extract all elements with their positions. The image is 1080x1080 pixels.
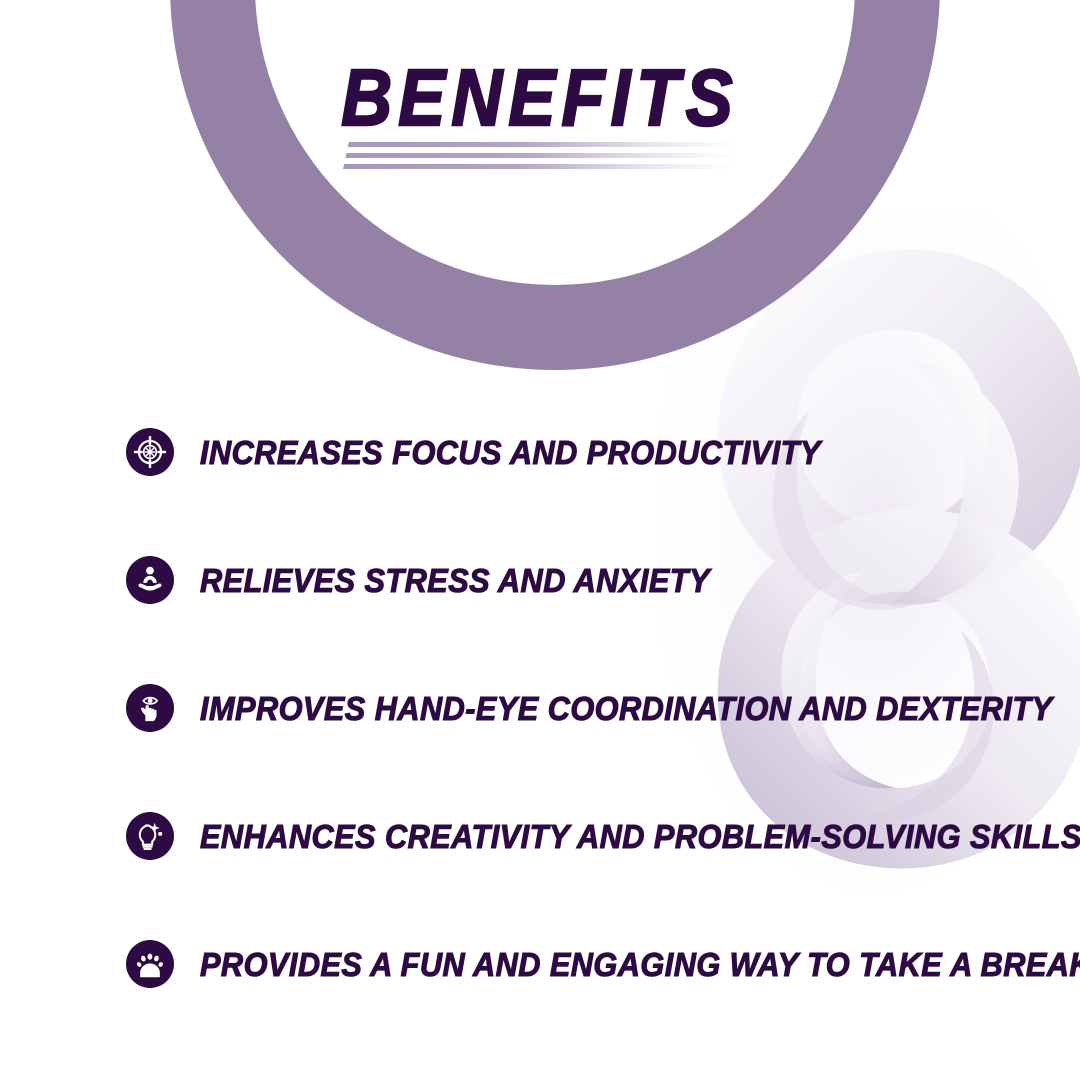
list-item: RELIEVES STRESS AND ANXIETY (126, 552, 1006, 608)
list-item-label: PROVIDES A FUN AND ENGAGING WAY TO TAKE … (200, 948, 1080, 981)
list-item: ENHANCES CREATIVITY AND PROBLEM-SOLVING … (126, 808, 1006, 864)
benefits-poster: BENEFITS (0, 0, 1080, 1080)
paw-hand-play-icon (126, 940, 174, 988)
meditation-person-icon (126, 556, 174, 604)
title-rule-3 (343, 164, 734, 169)
page-title-block: BENEFITS (0, 58, 1080, 138)
target-crosshair-icon (126, 428, 174, 476)
list-item-label: RELIEVES STRESS AND ANXIETY (200, 564, 710, 597)
benefits-list: INCREASES FOCUS AND PRODUCTIVITY RELIEVE… (126, 424, 1006, 992)
list-item-label: IMPROVES HAND-EYE COORDINATION AND DEXTE… (200, 692, 1053, 725)
list-item-label: INCREASES FOCUS AND PRODUCTIVITY (200, 436, 821, 469)
list-item: INCREASES FOCUS AND PRODUCTIVITY (126, 424, 1006, 480)
list-item: IMPROVES HAND-EYE COORDINATION AND DEXTE… (126, 680, 1006, 736)
page-title: BENEFITS (65, 58, 1015, 138)
lightbulb-idea-icon (126, 812, 174, 860)
title-underline-rules (341, 142, 739, 178)
eye-hand-coordination-icon (126, 684, 174, 732)
title-rule-1 (348, 142, 739, 147)
list-item-label: ENHANCES CREATIVITY AND PROBLEM-SOLVING … (200, 820, 1080, 853)
title-rule-2 (345, 153, 736, 158)
list-item: PROVIDES A FUN AND ENGAGING WAY TO TAKE … (126, 936, 1006, 992)
